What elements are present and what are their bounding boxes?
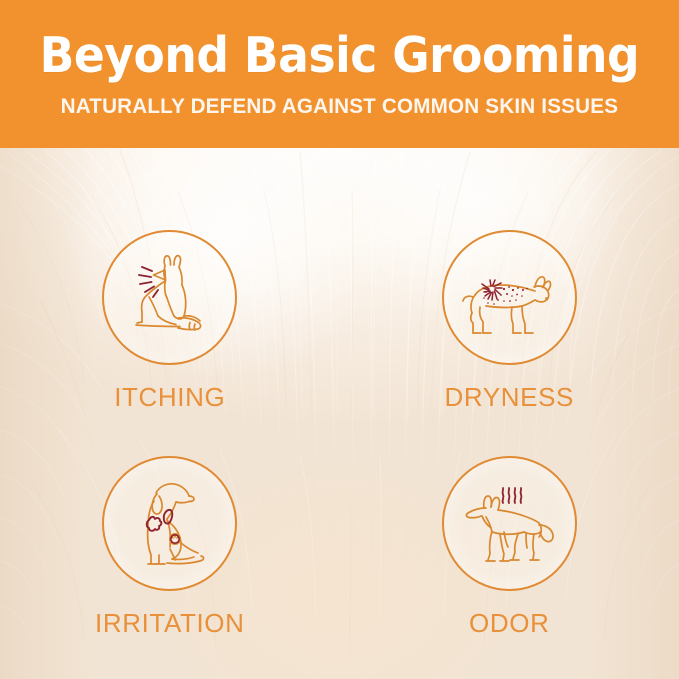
icon-badge-odor xyxy=(442,456,577,591)
icon-badge-dryness xyxy=(442,230,577,365)
feature-odor: ODOR xyxy=(340,414,679,679)
feature-label-dryness: DRYNESS xyxy=(445,384,574,410)
feature-itching: ITCHING xyxy=(0,148,340,414)
page-title: Beyond Basic Grooming xyxy=(40,31,640,80)
dog-scratching-icon xyxy=(118,246,222,350)
promo-poster: Beyond Basic Grooming NATURALLY DEFEND A… xyxy=(0,0,679,679)
feature-irritation: IRRITATION xyxy=(0,414,340,679)
feature-label-itching: ITCHING xyxy=(114,384,225,410)
icon-badge-itching xyxy=(102,230,237,365)
dog-irritated-patches-icon xyxy=(118,471,222,575)
header-banner: Beyond Basic Grooming NATURALLY DEFEND A… xyxy=(0,0,679,148)
page-subtitle: NATURALLY DEFEND AGAINST COMMON SKIN ISS… xyxy=(61,96,619,118)
feature-label-odor: ODOR xyxy=(469,610,549,636)
feature-dryness: DRYNESS xyxy=(340,148,679,414)
feature-grid: ITCHING xyxy=(0,148,679,679)
icon-badge-irritation xyxy=(102,456,237,591)
dog-dry-skin-flakes-icon xyxy=(456,245,562,351)
dog-odor-waves-icon xyxy=(456,470,562,576)
feature-label-irritation: IRRITATION xyxy=(95,610,244,636)
